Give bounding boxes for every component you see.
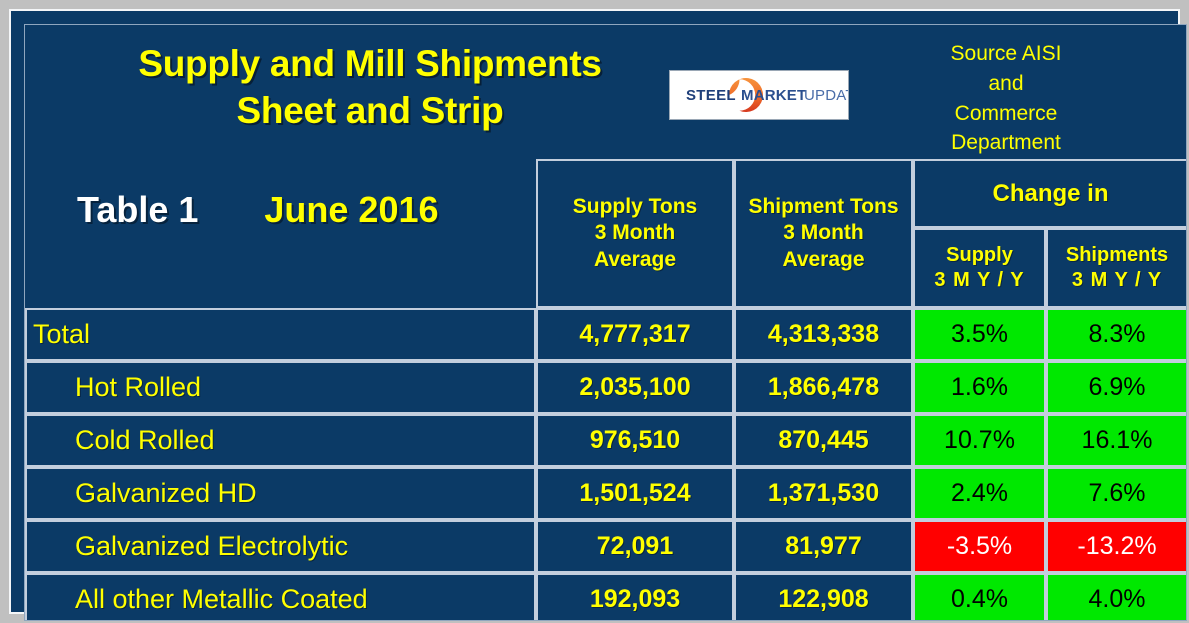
- change-shipments-cell: 4.0%: [1046, 573, 1187, 621]
- table-row: All other Metallic Coated192,093122,9080…: [25, 573, 1187, 621]
- table-header-grid: Supply Tons 3 Month Average Shipment Ton…: [536, 159, 1187, 308]
- table-row: Cold Rolled976,510870,44510.7%16.1%: [25, 414, 1187, 467]
- source-note: Source AISI and Commerce Department: [891, 39, 1121, 158]
- table-period-label: June 2016: [264, 189, 438, 231]
- source-line-4: Department: [891, 128, 1121, 158]
- logo-icon: STEEL MARKET UPDATE: [670, 71, 848, 119]
- supply-tons-cell: 4,777,317: [536, 308, 734, 361]
- column-header-change-supply: Supply 3 M Y / Y: [913, 228, 1046, 308]
- header-zone: Supply and Mill Shipments Sheet and Stri…: [25, 25, 1187, 308]
- column-header-supply-tons: Supply Tons 3 Month Average: [536, 159, 734, 308]
- supply-tons-cell: 976,510: [536, 414, 734, 467]
- shipment-tons-cell: 122,908: [734, 573, 913, 621]
- column-header-change-shipments: Shipments 3 M Y / Y: [1046, 228, 1187, 308]
- shipment-tons-cell: 81,977: [734, 520, 913, 573]
- title-line-1: Supply and Mill Shipments: [105, 41, 635, 88]
- row-label-cell: Galvanized HD: [25, 467, 536, 520]
- change-shipments-cell: 8.3%: [1046, 308, 1187, 361]
- shipment-tons-line-1: Shipment Tons: [748, 194, 898, 220]
- shipment-tons-line-2: 3 Month: [748, 220, 898, 246]
- change-supply-line-2: 3 M Y / Y: [934, 268, 1024, 293]
- steel-market-update-logo: STEEL MARKET UPDATE: [669, 70, 849, 120]
- change-shipments-line-1: Shipments: [1066, 243, 1168, 268]
- change-shipments-line-2: 3 M Y / Y: [1066, 268, 1168, 293]
- supply-tons-line-1: Supply Tons: [573, 194, 697, 220]
- slide-frame: Supply and Mill Shipments Sheet and Stri…: [0, 0, 1189, 623]
- table-caption: Table 1 June 2016: [77, 180, 537, 240]
- change-shipments-cell: -13.2%: [1046, 520, 1187, 573]
- change-supply-line-1: Supply: [934, 243, 1024, 268]
- slide-body: Supply and Mill Shipments Sheet and Stri…: [24, 24, 1187, 621]
- change-shipments-cell: 6.9%: [1046, 361, 1187, 414]
- shipment-tons-cell: 1,371,530: [734, 467, 913, 520]
- supply-tons-line-2: 3 Month: [573, 220, 697, 246]
- table-body: Total4,777,3174,313,3383.5%8.3%Hot Rolle…: [25, 308, 1187, 621]
- shipment-tons-line-3: Average: [748, 247, 898, 273]
- shipment-tons-cell: 1,866,478: [734, 361, 913, 414]
- table-row: Galvanized HD1,501,5241,371,5302.4%7.6%: [25, 467, 1187, 520]
- title-line-2: Sheet and Strip: [105, 88, 635, 135]
- supply-tons-cell: 1,501,524: [536, 467, 734, 520]
- page-title: Supply and Mill Shipments Sheet and Stri…: [105, 41, 635, 135]
- change-supply-cell: 0.4%: [913, 573, 1046, 621]
- table-row: Total4,777,3174,313,3383.5%8.3%: [25, 308, 1187, 361]
- change-supply-cell: -3.5%: [913, 520, 1046, 573]
- row-label-cell: Cold Rolled: [25, 414, 536, 467]
- shipment-tons-cell: 4,313,338: [734, 308, 913, 361]
- source-line-3: Commerce: [891, 99, 1121, 129]
- table-row: Galvanized Electrolytic72,09181,977-3.5%…: [25, 520, 1187, 573]
- table-row: Hot Rolled2,035,1001,866,4781.6%6.9%: [25, 361, 1187, 414]
- supply-tons-cell: 72,091: [536, 520, 734, 573]
- column-header-shipment-tons: Shipment Tons 3 Month Average: [734, 159, 913, 308]
- change-shipments-cell: 7.6%: [1046, 467, 1187, 520]
- row-label-cell: All other Metallic Coated: [25, 573, 536, 621]
- logo-word-update: UPDATE: [804, 87, 848, 104]
- row-label-cell: Total: [25, 308, 536, 361]
- slide-bevel: Supply and Mill Shipments Sheet and Stri…: [9, 9, 1180, 614]
- source-line-1: Source AISI: [891, 39, 1121, 69]
- supply-tons-cell: 192,093: [536, 573, 734, 621]
- source-line-2: and: [891, 69, 1121, 99]
- row-label-cell: Galvanized Electrolytic: [25, 520, 536, 573]
- column-header-change-in: Change in: [913, 159, 1187, 228]
- logo-word-market: MARKET: [741, 87, 806, 104]
- change-supply-cell: 2.4%: [913, 467, 1046, 520]
- row-label-cell: Hot Rolled: [25, 361, 536, 414]
- change-supply-cell: 3.5%: [913, 308, 1046, 361]
- supply-tons-line-3: Average: [573, 247, 697, 273]
- change-shipments-cell: 16.1%: [1046, 414, 1187, 467]
- change-supply-cell: 10.7%: [913, 414, 1046, 467]
- table-number-label: Table 1: [77, 189, 198, 231]
- shipment-tons-cell: 870,445: [734, 414, 913, 467]
- change-supply-cell: 1.6%: [913, 361, 1046, 414]
- supply-tons-cell: 2,035,100: [536, 361, 734, 414]
- logo-word-steel: STEEL: [686, 87, 736, 104]
